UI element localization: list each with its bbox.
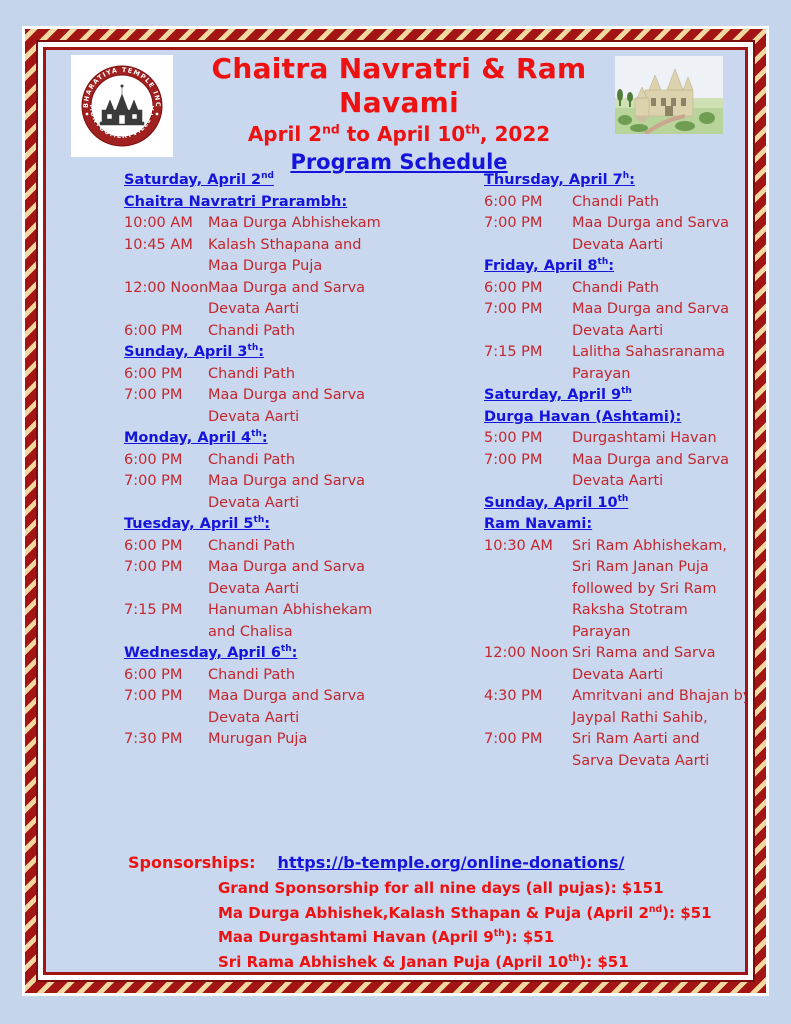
schedule-row: 10:30 AMSri Ram Janan Puja <box>484 557 745 579</box>
day-heading: Sunday, April 10th <box>484 493 745 515</box>
day-subheading: Ram Navami: <box>484 514 745 536</box>
date-range-mid: to April 10 <box>340 122 465 146</box>
poster-title: Chaitra Navratri & Ram Navami <box>164 52 634 120</box>
schedule-event: Sarva Devata Aarti <box>572 751 745 773</box>
schedule-event: Devata Aarti <box>208 493 454 515</box>
day-heading-text: Sunday, April 3 <box>124 344 248 360</box>
day-heading-ordinal: nd <box>261 171 274 181</box>
schedule-event: Sri Ram Aarti and <box>572 729 745 751</box>
schedule-row: 6:00 PMChandi Path <box>124 321 454 343</box>
schedule-row: 7:00 PMDevata Aarti <box>124 579 454 601</box>
schedule-row: 7:00 PMSarva Devata Aarti <box>484 751 745 773</box>
day-heading: Tuesday, April 5th: <box>124 514 454 536</box>
day-heading-text: Wednesday, April 6 <box>124 645 281 661</box>
schedule-event: Chandi Path <box>208 665 454 687</box>
schedule-time: 10:00 AM <box>124 213 208 235</box>
schedule-event: Devata Aarti <box>572 471 745 493</box>
schedule-row: 10:30 AMParayan <box>484 622 745 644</box>
schedule-event: Devata Aarti <box>208 407 454 429</box>
schedule-event: Maa Durga Puja <box>208 256 454 278</box>
schedule-row: 6:00 PMChandi Path <box>124 450 454 472</box>
day-heading-text: Monday, April 4 <box>124 430 251 446</box>
day-subheading: Durga Havan (Ashtami): <box>484 407 745 429</box>
day-heading-ordinal: th <box>621 386 632 396</box>
day-heading-suffix: : <box>608 258 614 274</box>
schedule-event: Devata Aarti <box>208 579 454 601</box>
schedule-row: 4:30 PMAmritvani and Bhajan by <box>484 686 745 708</box>
schedule-row: 10:30 AMRaksha Stotram <box>484 600 745 622</box>
header-titles: Chaitra Navratri & Ram Navami April 2nd … <box>164 52 634 176</box>
schedule-time: 6:00 PM <box>124 536 208 558</box>
schedule-row: 6:00 PMChandi Path <box>124 665 454 687</box>
day-heading-text: Sunday, April 10 <box>484 495 618 511</box>
sponsorship-section: Sponsorships: https://b-temple.org/onlin… <box>128 850 745 972</box>
schedule-time: 7:30 PM <box>124 729 208 751</box>
schedule-row: 10:45 AMMaa Durga Puja <box>124 256 454 278</box>
schedule-row: 10:30 AMfollowed by Sri Ram <box>484 579 745 601</box>
schedule-event: Maa Durga and Sarva <box>208 557 454 579</box>
day-heading: Saturday, April 2nd <box>124 170 454 192</box>
schedule-event: Parayan <box>572 364 745 386</box>
schedule-event: Chandi Path <box>208 536 454 558</box>
schedule-time: 4:30 PM <box>484 686 572 708</box>
temple-photo <box>615 56 723 134</box>
schedule-event: Maa Durga and Sarva <box>208 385 454 407</box>
schedule-row: 4:30 PMJaypal Rathi Sahib, <box>484 708 745 730</box>
poster-root: BHARATIYA TEMPLE INC MONTGOMERYVILLE PA <box>0 0 791 1024</box>
day-heading-suffix: : <box>264 516 270 532</box>
schedule-time: 7:00 PM <box>484 450 572 472</box>
schedule-event: Chandi Path <box>572 278 745 300</box>
schedule-event: Sri Ram Abhishekam, <box>572 536 745 558</box>
schedule-row: 7:00 PMMaa Durga and Sarva <box>124 471 454 493</box>
day-heading-ordinal: th <box>251 429 262 439</box>
temple-seal-icon: BHARATIYA TEMPLE INC MONTGOMERYVILLE PA <box>74 58 170 154</box>
sponsorship-item-ordinal: th <box>494 928 505 939</box>
schedule-time: 6:00 PM <box>124 321 208 343</box>
day-heading-ordinal: th <box>598 257 609 267</box>
schedule-row: 7:00 PMMaa Durga and Sarva <box>124 385 454 407</box>
schedule-event: Maa Durga and Sarva <box>208 278 454 300</box>
schedule-event: Hanuman Abhishekam <box>208 600 454 622</box>
schedule-time: 7:00 PM <box>124 385 208 407</box>
sponsorship-item-text: Ma Durga Abhishek,Kalash Sthapan & Puja … <box>218 904 649 922</box>
schedule-event: Devata Aarti <box>208 708 454 730</box>
sponsorship-item: Grand Sponsorship for all nine days (all… <box>218 876 745 901</box>
schedule-row: 7:00 PMMaa Durga and Sarva <box>124 557 454 579</box>
schedule-event: Chandi Path <box>208 450 454 472</box>
schedule-row: 10:30 AMSri Ram Abhishekam, <box>484 536 745 558</box>
schedule-row: 10:45 AMKalash Sthapana and <box>124 235 454 257</box>
sponsorship-item-text: Sri Rama Abhishek & Janan Puja (April 10 <box>218 953 568 971</box>
schedule-event: Devata Aarti <box>572 665 745 687</box>
schedule-row: 7:00 PMMaa Durga and Sarva <box>484 450 745 472</box>
schedule-time: 12:00 Noon <box>124 278 208 300</box>
schedule-time: 7:00 PM <box>124 557 208 579</box>
temple-logo: BHARATIYA TEMPLE INC MONTGOMERYVILLE PA <box>71 55 173 157</box>
day-heading: Monday, April 4th: <box>124 428 454 450</box>
schedule-event: Maa Durga and Sarva <box>208 471 454 493</box>
schedule-event: Devata Aarti <box>572 321 745 343</box>
schedule-row: 7:00 PMSri Ram Aarti and <box>484 729 745 751</box>
schedule-event: Maa Durga and Sarva <box>572 450 745 472</box>
decorative-frame-outer: BHARATIYA TEMPLE INC MONTGOMERYVILLE PA <box>22 26 769 996</box>
schedule-event: Devata Aarti <box>572 235 745 257</box>
schedule-row: 7:00 PMMaa Durga and Sarva <box>484 299 745 321</box>
day-heading-suffix: : <box>262 430 268 446</box>
schedule-row: 7:00 PMDevata Aarti <box>124 493 454 515</box>
day-heading-suffix: : <box>292 645 298 661</box>
schedule-row: 7:00 PMDevata Aarti <box>124 708 454 730</box>
schedule-event: Raksha Stotram <box>572 600 745 622</box>
schedule-time: 7:00 PM <box>484 299 572 321</box>
schedule-row: 7:15 PMParayan <box>484 364 745 386</box>
schedule-row: 6:00 PMChandi Path <box>484 192 745 214</box>
schedule-time: 7:15 PM <box>124 600 208 622</box>
schedule-event: Chandi Path <box>208 364 454 386</box>
schedule-event: Devata Aarti <box>208 299 454 321</box>
schedule-event: Parayan <box>572 622 745 644</box>
schedule-time: 5:00 PM <box>484 428 572 450</box>
schedule-time: 7:00 PM <box>484 729 572 751</box>
schedule-row: 7:00 PMMaa Durga and Sarva <box>124 686 454 708</box>
schedule-time: 10:45 AM <box>124 235 208 257</box>
day-heading-ordinal: th <box>281 644 292 654</box>
schedule-row: 7:30 PMMurugan Puja <box>124 729 454 751</box>
sponsorship-header: Sponsorships: https://b-temple.org/onlin… <box>128 850 745 876</box>
donation-link[interactable]: https://b-temple.org/online-donations/ <box>278 850 625 876</box>
schedule-row: 7:00 PMDevata Aarti <box>484 235 745 257</box>
schedule-event: Maa Durga Abhishekam <box>208 213 454 235</box>
schedule-row: 6:00 PMChandi Path <box>124 536 454 558</box>
schedule-column-right: Thursday, April 7h:6:00 PMChandi Path7:0… <box>484 170 745 772</box>
temple-building-icon <box>615 56 723 134</box>
schedule-row: 6:00 PMChandi Path <box>484 278 745 300</box>
schedule-time: 7:00 PM <box>124 686 208 708</box>
sponsorship-item-price: ): $51 <box>662 904 711 922</box>
sponsorship-item: Ma Durga Abhishek,Kalash Sthapan & Puja … <box>218 901 745 926</box>
day-heading: Sunday, April 3th: <box>124 342 454 364</box>
poster-content: BHARATIYA TEMPLE INC MONTGOMERYVILLE PA <box>46 50 745 972</box>
schedule-event: followed by Sri Ram <box>572 579 745 601</box>
date-range-pre: April 2 <box>248 122 322 146</box>
day-heading-suffix: : <box>629 172 635 188</box>
schedule-row: 5:00 PMDurgashtami Havan <box>484 428 745 450</box>
schedule-row: 7:15 PMHanuman Abhishekam <box>124 600 454 622</box>
schedule-row: 12:00 NoonDevata Aarti <box>124 299 454 321</box>
schedule-row: 7:00 PMDevata Aarti <box>124 407 454 429</box>
sponsorship-item: Sri Rama Abhishek & Janan Puja (April 10… <box>218 950 745 973</box>
day-heading: Friday, April 8th: <box>484 256 745 278</box>
schedule-time: 6:00 PM <box>484 278 572 300</box>
schedule-time: 7:00 PM <box>484 213 572 235</box>
day-heading: Saturday, April 9th <box>484 385 745 407</box>
schedule-event: Chandi Path <box>208 321 454 343</box>
sponsorship-item-ordinal: th <box>568 953 579 964</box>
sponsorship-item-price: ): $51 <box>579 953 628 971</box>
day-heading-ordinal: th <box>248 343 259 353</box>
sponsorship-label: Sponsorships: <box>128 850 256 876</box>
schedule-event: Chandi Path <box>572 192 745 214</box>
day-heading-ordinal: th <box>254 515 265 525</box>
schedule-row: 7:00 PMDevata Aarti <box>484 321 745 343</box>
schedule-time: 10:30 AM <box>484 536 572 558</box>
schedule-event: Amritvani and Bhajan by <box>572 686 745 708</box>
date-range-post: , 2022 <box>480 122 550 146</box>
schedule-time: 7:15 PM <box>484 342 572 364</box>
day-heading-text: Saturday, April 2 <box>124 172 261 188</box>
schedule-row: 12:00 NoonSri Rama and Sarva <box>484 643 745 665</box>
schedule-row: 12:00 NoonMaa Durga and Sarva <box>124 278 454 300</box>
schedule-event: Sri Rama and Sarva <box>572 643 745 665</box>
sponsorship-item-ordinal: nd <box>649 904 662 915</box>
schedule-event: Murugan Puja <box>208 729 454 751</box>
schedule-column-left: Saturday, April 2ndChaitra Navratri Prar… <box>124 170 454 751</box>
schedule-event: Durgashtami Havan <box>572 428 745 450</box>
date-range-sup-2: th <box>465 121 480 136</box>
schedule-row: 7:15 PMLalitha Sahasranama <box>484 342 745 364</box>
schedule-event: Sri Ram Janan Puja <box>572 557 745 579</box>
sponsorship-item-text: Grand Sponsorship for all nine days (all… <box>218 879 664 897</box>
schedule-time: 12:00 Noon <box>484 643 572 665</box>
schedule-event: Maa Durga and Sarva <box>572 213 745 235</box>
schedule-event: and Chalisa <box>208 622 454 644</box>
sponsorship-item-price: ): $51 <box>505 928 554 946</box>
schedule-row: 7:00 PMDevata Aarti <box>484 471 745 493</box>
day-heading-text: Saturday, April 9 <box>484 387 621 403</box>
schedule-event: Maa Durga and Sarva <box>572 299 745 321</box>
schedule-time: 6:00 PM <box>124 364 208 386</box>
day-heading-ordinal: th <box>618 494 629 504</box>
schedule-row: 7:15 PMand Chalisa <box>124 622 454 644</box>
schedule-row: 7:00 PMMaa Durga and Sarva <box>484 213 745 235</box>
schedule-event: Jaypal Rathi Sahib, <box>572 708 745 730</box>
schedule-event: Kalash Sthapana and <box>208 235 454 257</box>
date-range-sup-1: nd <box>322 121 340 136</box>
day-subheading: Chaitra Navratri Prarambh: <box>124 192 454 214</box>
schedule-row: 10:00 AMMaa Durga Abhishekam <box>124 213 454 235</box>
day-heading-text: Tuesday, April 5 <box>124 516 254 532</box>
poster-date-range: April 2nd to April 10th, 2022 <box>164 120 634 148</box>
schedule-event: Lalitha Sahasranama <box>572 342 745 364</box>
day-heading: Thursday, April 7h: <box>484 170 745 192</box>
schedule-row: 12:00 NoonDevata Aarti <box>484 665 745 687</box>
day-heading-text: Friday, April 8 <box>484 258 598 274</box>
schedule-time: 6:00 PM <box>124 450 208 472</box>
sponsorship-item-list: Grand Sponsorship for all nine days (all… <box>128 876 745 972</box>
schedule-time: 6:00 PM <box>124 665 208 687</box>
sponsorship-item: Maa Durgashtami Havan (April 9th): $51 <box>218 925 745 950</box>
day-heading: Wednesday, April 6th: <box>124 643 454 665</box>
schedule-event: Maa Durga and Sarva <box>208 686 454 708</box>
schedule-time: 7:00 PM <box>124 471 208 493</box>
schedule-row: 6:00 PMChandi Path <box>124 364 454 386</box>
day-heading-suffix: : <box>258 344 264 360</box>
poster-header: BHARATIYA TEMPLE INC MONTGOMERYVILLE PA <box>46 50 745 170</box>
sponsorship-item-text: Maa Durgashtami Havan (April 9 <box>218 928 494 946</box>
schedule-time: 6:00 PM <box>484 192 572 214</box>
day-heading-text: Thursday, April 7 <box>484 172 623 188</box>
